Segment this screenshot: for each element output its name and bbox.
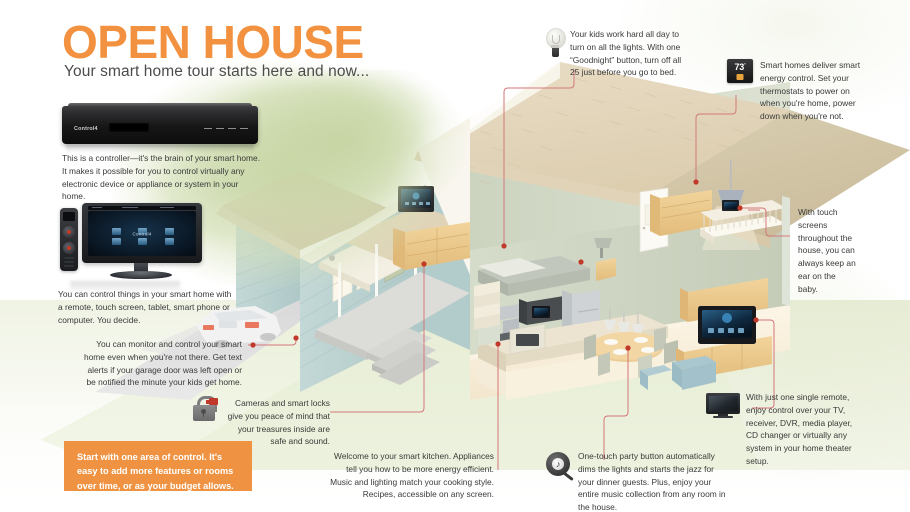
thermostat-reading: 73° [727,62,753,72]
music-note-glyph: ♪ [556,460,561,469]
degree-symbol: ° [744,62,746,67]
tv-icon [706,393,740,419]
desktop-monitor-icon: Control4 [82,203,202,263]
monitor-logo: Control4 [133,231,152,236]
monitor-app-icons [104,227,182,246]
living-room-touchscreen [698,306,756,344]
staircase [474,281,500,330]
wall-touchscreen-bedroom [398,186,434,212]
page-title: OPEN HOUSE [62,19,364,65]
monitor-and-remote-icon: Control4 [58,203,230,281]
remote-control-icon [60,208,78,271]
monitor-base [110,271,172,279]
infographic-canvas: OPEN HOUSE Your smart home tour starts h… [0,0,910,512]
thermostat-value: 73 [735,62,744,72]
wall-touchscreen-nursery [722,200,739,211]
wall-touchscreen-kitchen [532,306,550,318]
controller-vents [204,128,248,129]
padlock-camera-icon [192,396,218,422]
camera-badge-icon [209,398,218,405]
thermostat-indicator [737,74,744,80]
kitchen-description: Welcome to your smart kitchen. Appliance… [330,450,494,501]
touchscreens-description: With touch screens throughout the house,… [798,206,856,295]
controller-device-icon: Control4 [62,106,258,144]
controller-brand-label: Control4 [74,126,98,132]
monitor-screen: Control4 [88,211,196,256]
thermostat-description: Smart homes deliver smart energy control… [760,59,864,123]
theater-description: With just one single remote, enjoy contr… [746,391,864,468]
screens-description: You can control things in your smart hom… [58,288,238,326]
party-button-icon: ♪ [546,452,574,478]
page-subtitle: Your smart home tour starts here and now… [64,63,369,81]
lightbulb-icon [544,28,566,58]
controller-ir-window [109,123,149,132]
monitor-garage-description: You can monitor and control your smart h… [82,338,242,389]
party-description: One-touch party button automatically dim… [578,450,726,512]
goodnight-description: Your kids work hard all day to turn on a… [570,28,682,79]
cta-box[interactable]: Start with one area of control. It's eas… [64,441,252,491]
thermostat-icon: 73° [727,59,753,83]
controller-description: This is a controller—it's the brain of y… [62,152,262,203]
monitor-menubar [88,206,196,210]
